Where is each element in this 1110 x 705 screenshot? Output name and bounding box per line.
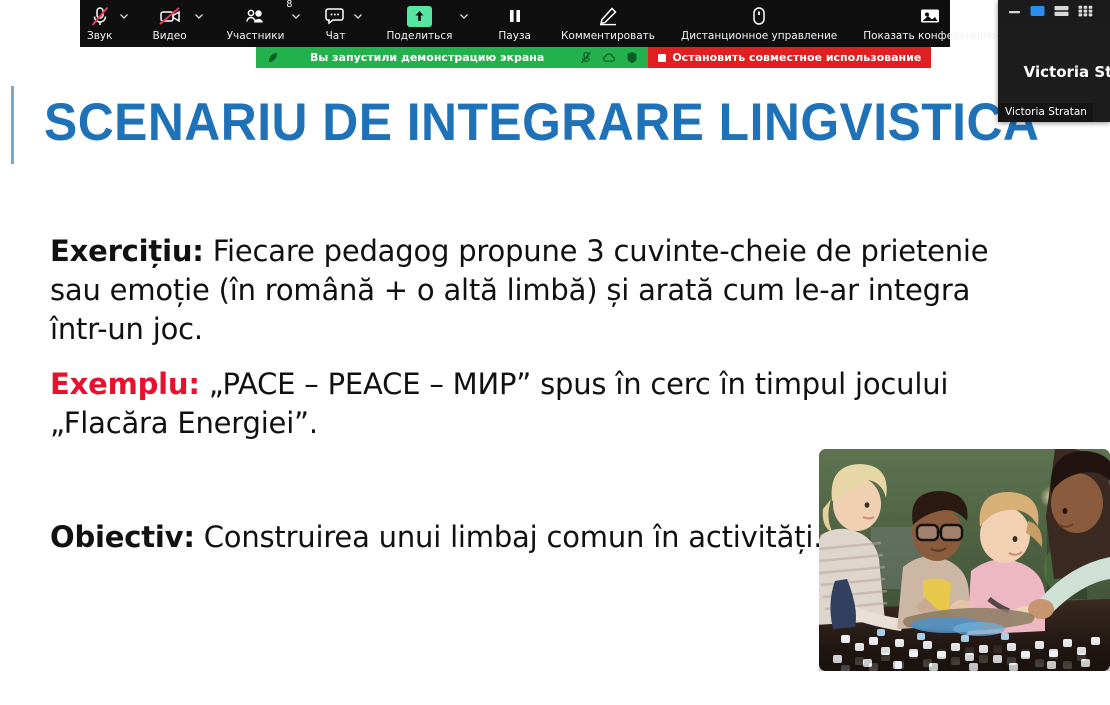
toolbar-button-pause[interactable]: Пауза [491,0,538,47]
paragraph-exemplu: Exemplu: „PACE – PEACE – МИР” spus în ce… [50,365,995,443]
microphone-muted-icon [90,4,110,28]
presentation-slide: SCENARIU DE INTEGRARE LINGVISTICĂ Exerci… [0,0,1110,705]
toolbar-label-pause: Пауза [498,30,531,43]
share-status-green-section: Вы запустили демонстрацию экрана [256,47,648,68]
toolbar-button-participants[interactable]: 8 Участники [220,0,292,43]
leaf-icon [265,51,279,65]
participants-icon [244,4,268,28]
stop-share-button[interactable]: Остановить совместное использование [648,47,931,68]
zoom-meeting-toolbar: Звук Видео [80,0,950,47]
gallery-view-icon[interactable] [1078,5,1093,17]
video-panel-controls [998,0,1110,21]
slide-photo-container [819,449,1110,671]
title-accent-bar [11,86,14,164]
video-name-tag: Victoria Stratan [998,103,1093,122]
show-meeting-icon [919,4,941,28]
share-status-text: Вы запустили демонстрацию экрана [288,51,570,64]
toolbar-group-audio: Звук [80,0,129,47]
toolbar-label-video: Видео [152,30,186,43]
label-exemplu: Exemplu: [50,367,200,401]
chevron-down-icon-video[interactable] [194,8,204,18]
toolbar-label-participants: Участники [227,30,285,43]
shield-icon[interactable] [625,51,639,65]
mic-muted-small-icon[interactable] [579,51,593,65]
minimize-icon[interactable] [1008,6,1021,16]
toolbar-group-participants: 8 Участники [220,0,302,47]
toolbar-button-video[interactable]: Видео [145,0,193,43]
participant-video-panel[interactable]: Victoria St Victoria Stratan [998,0,1110,122]
share-screen-icon [407,4,432,28]
photo-reflection [819,637,1110,671]
toolbar-label-annotate: Комментировать [561,30,655,43]
stop-square-icon [658,54,666,62]
toolbar-button-remote-control[interactable]: Дистанционное управление [674,0,844,47]
toolbar-label-share: Поделиться [386,30,452,43]
toolbar-group-chat: Чат [317,0,363,47]
cloud-icon[interactable] [602,51,616,65]
toolbar-label-remote-control: Дистанционное управление [681,30,837,43]
active-speaker-view-icon[interactable] [1030,5,1045,17]
toolbar-group-share: Поделиться [379,0,469,47]
video-stage[interactable]: Victoria St Victoria Stratan [998,21,1110,122]
chevron-down-icon-chat[interactable] [353,8,363,18]
label-obiectiv: Obiectiv: [50,520,195,554]
text-obiectiv: Construirea unui limbaj comun în activit… [195,520,823,554]
chevron-down-icon-audio[interactable] [119,8,129,18]
chevron-down-icon-participants[interactable] [291,8,301,18]
toolbar-label-audio: Звук [87,30,112,43]
pause-icon [506,4,524,28]
camera-off-icon [158,4,182,28]
toolbar-group-video: Видео [145,0,203,47]
screen-share-status-bar: Вы запустили демонстрацию экрана Останов… [256,47,931,68]
label-exercitiu: Exercițiu: [50,234,204,268]
strip-view-icon[interactable] [1054,5,1069,17]
toolbar-button-annotate[interactable]: Комментировать [554,0,662,47]
toolbar-button-audio[interactable]: Звук [80,0,119,43]
page-title: SCENARIU DE INTEGRARE LINGVISTICĂ [44,92,946,154]
annotate-pencil-icon [597,4,619,28]
toolbar-label-chat: Чат [326,30,346,43]
toolbar-label-show-meeting: Показать конференцию [863,30,996,43]
remote-control-mouse-icon [750,4,768,28]
chat-bubble-icon [324,4,346,28]
video-participant-name: Victoria St [1024,63,1110,81]
paragraph-exercitiu: Exercițiu: Fiecare pedagog propune 3 cuv… [50,232,995,349]
toolbar-button-share[interactable]: Поделиться [379,0,459,43]
toolbar-button-show-meeting[interactable]: Показать конференцию [856,0,1003,47]
chevron-down-icon-share[interactable] [459,8,469,18]
stop-share-label: Остановить совместное использование [672,51,921,64]
toolbar-button-chat[interactable]: Чат [317,0,353,43]
